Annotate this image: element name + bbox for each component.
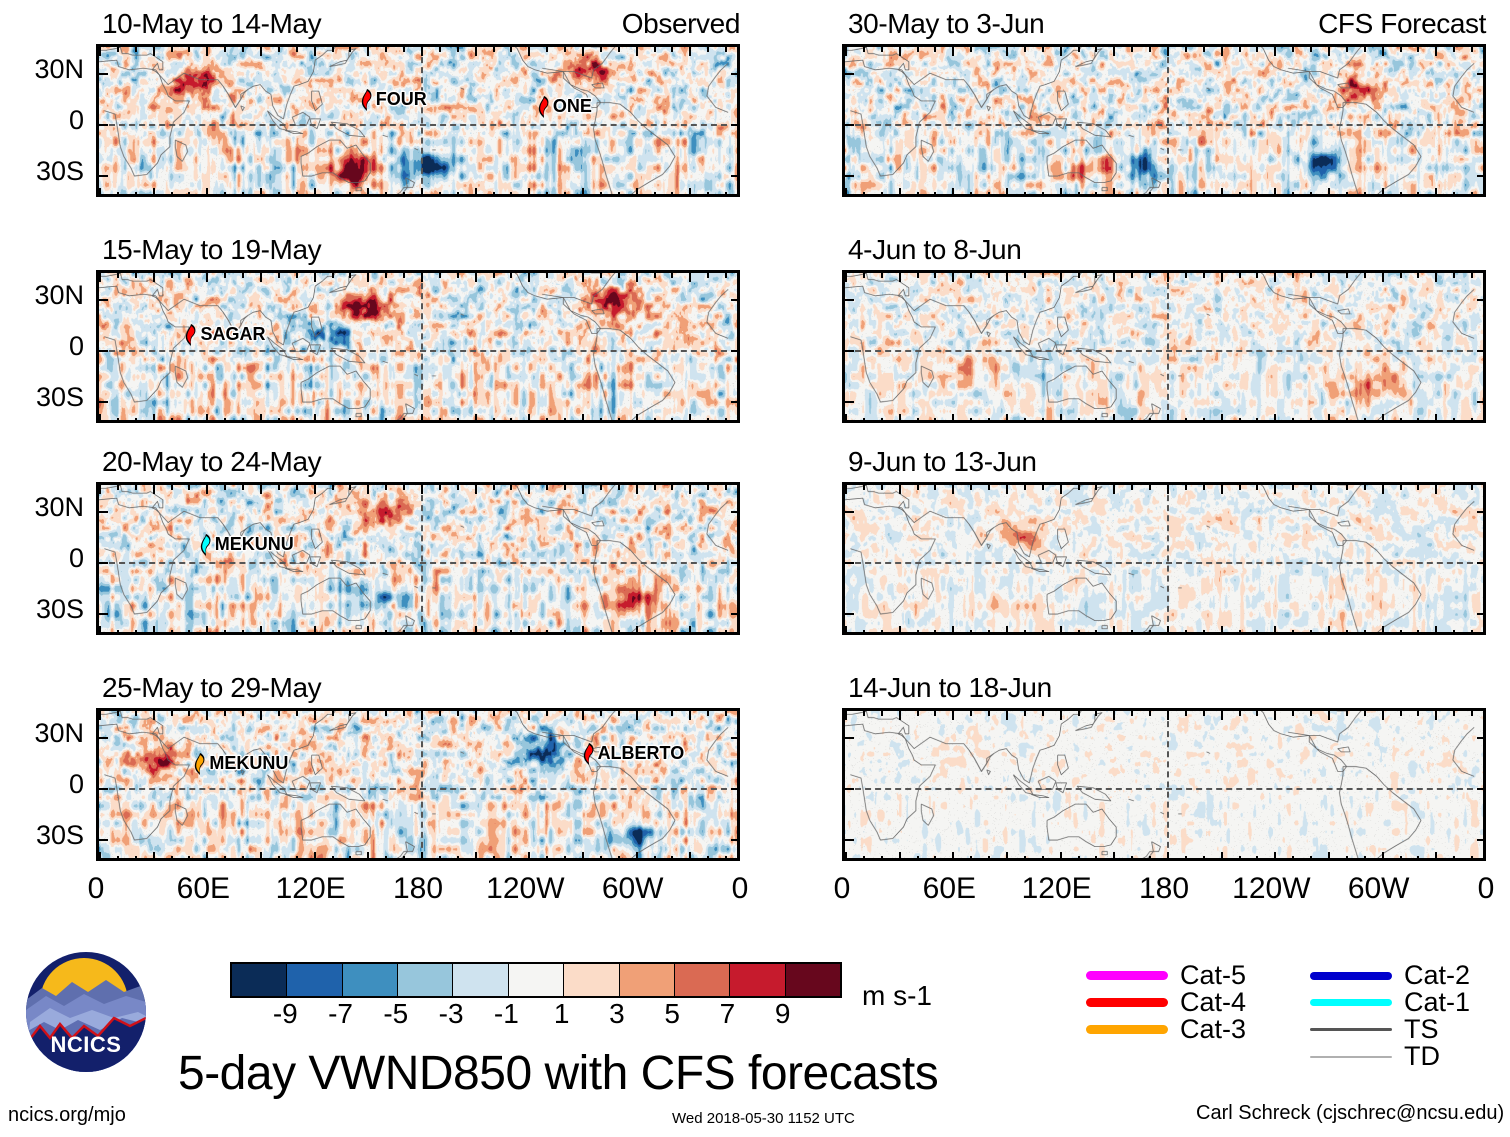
x-tick (153, 47, 155, 56)
x-tick (457, 711, 459, 716)
x-tick (618, 273, 620, 278)
x-tick (224, 856, 226, 861)
storm-marker-alberto: ALBERTO (580, 742, 685, 765)
x-tick (1221, 273, 1223, 282)
x-tick (1417, 711, 1419, 716)
x-tick (917, 856, 919, 861)
x-tick (493, 856, 495, 861)
y-tick (1477, 613, 1486, 615)
x-tick (725, 418, 727, 423)
y-axis-label: 30N (4, 280, 84, 311)
x-tick (206, 485, 208, 494)
x-tick (1078, 630, 1080, 635)
x-tick (493, 192, 495, 197)
x-tick (1006, 711, 1008, 720)
x-tick (242, 485, 244, 490)
colorbar-swatch-9 (730, 964, 785, 996)
map-0: FOURONE (96, 44, 740, 197)
x-tick (1185, 192, 1187, 197)
x-tick (988, 485, 990, 490)
x-tick (296, 630, 298, 635)
x-tick (1417, 273, 1419, 278)
x-tick (636, 485, 638, 494)
x-tick (1471, 47, 1473, 52)
footer-center: Wed 2018-05-30 1152 UTC (672, 1110, 855, 1127)
panel-title-5: 9-Jun to 13-Jun (848, 446, 1037, 478)
x-tick (99, 711, 101, 720)
x-tick (385, 630, 387, 635)
x-tick (457, 273, 459, 278)
x-tick (117, 418, 119, 423)
x-tick (1346, 711, 1348, 716)
x-tick (952, 711, 954, 720)
x-tick (1292, 630, 1294, 635)
x-tick (1382, 47, 1384, 56)
x-tick (600, 630, 602, 635)
x-tick (1256, 273, 1258, 278)
x-tick (636, 414, 638, 423)
panel-title-2: 15-May to 19-May (102, 234, 321, 266)
x-tick (278, 418, 280, 423)
y-axis-label: 0 (4, 105, 84, 136)
panel-title-6: 25-May to 29-May (102, 672, 321, 704)
x-tick (171, 47, 173, 52)
x-tick (654, 856, 656, 861)
x-tick (881, 856, 883, 861)
x-tick (528, 485, 530, 494)
x-tick (1435, 852, 1437, 861)
x-tick (899, 852, 901, 861)
x-tick (600, 418, 602, 423)
x-tick (725, 630, 727, 635)
x-tick (349, 630, 351, 635)
x-tick (881, 630, 883, 635)
x-tick (689, 626, 691, 635)
x-tick (99, 188, 101, 197)
x-tick (1149, 711, 1151, 716)
map-2: SAGAR (96, 270, 740, 423)
x-tick (188, 711, 190, 716)
x-tick (1113, 711, 1115, 720)
x-tick (1274, 485, 1276, 494)
legend-item-cat-4: Cat-4 (1086, 989, 1246, 1016)
x-tick (99, 485, 101, 494)
dateline-3 (1167, 273, 1169, 420)
x-tick (1078, 418, 1080, 423)
x-tick (1364, 273, 1366, 278)
colorbar-swatch-7 (620, 964, 675, 996)
x-tick (582, 188, 584, 197)
x-tick (457, 47, 459, 52)
x-tick (952, 626, 954, 635)
x-tick (1400, 273, 1402, 278)
x-tick (439, 485, 441, 490)
y-axis-label: 30S (4, 156, 84, 187)
x-tick (546, 485, 548, 490)
x-tick (224, 418, 226, 423)
legend-swatch (1086, 998, 1168, 1007)
x-tick (934, 273, 936, 278)
x-tick (618, 630, 620, 635)
x-tick (1346, 273, 1348, 278)
y-tick (845, 613, 854, 615)
x-tick (1078, 711, 1080, 716)
x-tick (1417, 418, 1419, 423)
x-tick (1024, 856, 1026, 861)
panel-title-4: 20-May to 24-May (102, 446, 321, 478)
x-tick (332, 856, 334, 861)
x-tick (296, 485, 298, 490)
x-tick (135, 485, 137, 490)
x-tick (457, 192, 459, 197)
anomaly-field-0 (99, 47, 737, 194)
x-tick (1131, 485, 1133, 490)
x-tick (988, 711, 990, 716)
x-tick (600, 273, 602, 278)
map-7 (842, 708, 1486, 861)
x-tick (970, 711, 972, 716)
storm-label: SAGAR (200, 324, 265, 345)
x-tick (188, 856, 190, 861)
x-tick (1274, 188, 1276, 197)
x-tick (988, 630, 990, 635)
x-tick (1382, 626, 1384, 635)
y-tick (1477, 350, 1486, 352)
x-tick (1274, 47, 1276, 56)
colorbar-tick-label: -3 (439, 998, 464, 1030)
x-tick (99, 273, 101, 282)
x-tick (1453, 485, 1455, 490)
x-tick (1382, 414, 1384, 423)
x-tick (725, 273, 727, 278)
x-tick (1471, 192, 1473, 197)
x-tick (349, 47, 351, 52)
colorbar-swatch-5 (509, 964, 564, 996)
x-tick (988, 47, 990, 52)
colorbar (230, 962, 842, 998)
x-tick (1113, 852, 1115, 861)
x-tick (1328, 47, 1330, 56)
x-tick (1203, 273, 1205, 278)
y-tick (99, 511, 108, 513)
x-tick (1453, 47, 1455, 52)
x-tick (654, 192, 656, 197)
colorbar-tick-label: -1 (494, 998, 519, 1030)
x-tick (206, 711, 208, 720)
dateline-5 (1167, 485, 1169, 632)
x-tick (1328, 711, 1330, 720)
x-tick (1024, 273, 1026, 278)
x-tick (917, 711, 919, 716)
x-tick (1131, 418, 1133, 423)
x-tick (135, 856, 137, 861)
x-tick (1292, 711, 1294, 716)
x-tick (296, 418, 298, 423)
x-tick (1310, 192, 1312, 197)
x-tick (510, 711, 512, 716)
x-tick (188, 418, 190, 423)
x-tick (1239, 630, 1241, 635)
x-tick (970, 273, 972, 278)
x-tick (1095, 856, 1097, 861)
x-tick (117, 485, 119, 490)
equator-line-1 (845, 124, 1483, 126)
x-tick (1095, 485, 1097, 490)
x-tick (367, 414, 369, 423)
x-tick (510, 856, 512, 861)
cyclone-icon (580, 742, 597, 765)
x-axis-tick-label: 60W (602, 872, 664, 906)
x-tick (707, 192, 709, 197)
x-tick (457, 418, 459, 423)
y-axis-label: 0 (4, 331, 84, 362)
x-tick (457, 485, 459, 490)
colorbar-tick-label: 3 (609, 998, 625, 1030)
x-tick (1060, 414, 1062, 423)
y-axis-label: 0 (4, 543, 84, 574)
x-tick (1292, 856, 1294, 861)
y-tick (731, 562, 740, 564)
x-tick (1435, 711, 1437, 720)
equator-line-3 (845, 350, 1483, 352)
x-tick (367, 852, 369, 861)
y-tick (1477, 73, 1486, 75)
x-tick (952, 485, 954, 494)
x-tick (135, 630, 137, 635)
x-tick (671, 273, 673, 278)
x-tick (242, 630, 244, 635)
x-tick (988, 856, 990, 861)
x-tick (671, 711, 673, 716)
storm-label: FOUR (376, 89, 427, 110)
x-tick (1042, 485, 1044, 490)
x-tick (636, 47, 638, 56)
x-tick (421, 273, 423, 282)
panel-title-3: 4-Jun to 8-Jun (848, 234, 1021, 266)
x-tick (1006, 47, 1008, 56)
x-tick (385, 47, 387, 52)
x-tick (1382, 273, 1384, 282)
dateline-4 (421, 485, 423, 632)
x-tick (493, 47, 495, 52)
x-tick (917, 485, 919, 490)
x-tick (1256, 485, 1258, 490)
x-tick (1364, 711, 1366, 716)
x-tick (421, 626, 423, 635)
x-tick (1024, 418, 1026, 423)
x-tick (1167, 485, 1169, 494)
x-tick (1310, 856, 1312, 861)
x-tick (582, 414, 584, 423)
colorbar-swatch-6 (564, 964, 619, 996)
x-tick (600, 856, 602, 861)
legend-label: TS (1404, 1016, 1439, 1043)
x-tick (242, 711, 244, 716)
x-tick (707, 630, 709, 635)
x-tick (1149, 418, 1151, 423)
x-tick (707, 418, 709, 423)
x-tick (917, 192, 919, 197)
x-tick (1167, 711, 1169, 720)
dateline-0 (421, 47, 423, 194)
x-tick (224, 711, 226, 716)
x-tick (385, 273, 387, 278)
x-tick (618, 418, 620, 423)
y-tick (845, 175, 854, 177)
x-tick (636, 711, 638, 720)
x-tick (654, 47, 656, 52)
y-tick (1477, 788, 1486, 790)
x-tick (224, 192, 226, 197)
x-axis-tick-label: 180 (1139, 872, 1189, 906)
x-tick (475, 47, 477, 56)
x-tick (403, 630, 405, 635)
equator-line-7 (845, 788, 1483, 790)
x-tick (1400, 418, 1402, 423)
y-tick (731, 175, 740, 177)
x-tick (1006, 852, 1008, 861)
x-tick (1435, 273, 1437, 282)
y-tick (1477, 124, 1486, 126)
equator-line-2 (99, 350, 737, 352)
x-tick (952, 852, 954, 861)
x-tick (1310, 418, 1312, 423)
x-tick (689, 852, 691, 861)
x-tick (1167, 626, 1169, 635)
x-tick (153, 273, 155, 282)
x-tick (1328, 188, 1330, 197)
x-tick (493, 418, 495, 423)
x-tick (1328, 485, 1330, 494)
dateline-1 (1167, 47, 1169, 194)
x-tick (1471, 711, 1473, 716)
x-tick (881, 273, 883, 278)
storm-marker-sagar: SAGAR (182, 323, 265, 346)
x-axis-tick-label: 120W (1232, 872, 1310, 906)
x-tick (332, 273, 334, 278)
x-tick (296, 192, 298, 197)
x-tick (1203, 856, 1205, 861)
x-tick (863, 47, 865, 52)
x-tick (260, 626, 262, 635)
x-tick (1292, 47, 1294, 52)
x-tick (403, 485, 405, 490)
x-tick (439, 856, 441, 861)
x-tick (367, 47, 369, 56)
x-tick (332, 711, 334, 716)
x-tick (242, 192, 244, 197)
x-tick (439, 711, 441, 716)
x-tick (881, 47, 883, 52)
x-axis-tick-label: 60E (177, 872, 230, 906)
colorbar-units-label: m s-1 (862, 980, 932, 1012)
x-tick (153, 626, 155, 635)
x-tick (457, 630, 459, 635)
x-tick (600, 485, 602, 490)
y-tick (845, 73, 854, 75)
x-tick (1274, 273, 1276, 282)
x-tick (1149, 485, 1151, 490)
x-tick (707, 47, 709, 52)
y-tick (99, 299, 108, 301)
x-tick (528, 273, 530, 282)
x-axis-tick-label: 0 (88, 872, 105, 906)
x-tick (1435, 626, 1437, 635)
x-tick (421, 188, 423, 197)
x-tick (296, 856, 298, 861)
y-tick (731, 788, 740, 790)
x-axis-tick-label: 0 (834, 872, 851, 906)
x-tick (332, 485, 334, 490)
x-tick (1400, 711, 1402, 716)
x-tick (510, 630, 512, 635)
colorbar-swatch-2 (343, 964, 398, 996)
x-tick (493, 630, 495, 635)
x-tick (564, 47, 566, 52)
x-tick (845, 188, 847, 197)
x-tick (1149, 630, 1151, 635)
x-tick (546, 192, 548, 197)
x-axis-right: 060E120E180120W60W0 (842, 872, 1486, 904)
x-tick (970, 856, 972, 861)
x-tick (224, 47, 226, 52)
x-tick (654, 630, 656, 635)
legend-column-right: Cat-2Cat-1TSTD (1310, 962, 1470, 1070)
x-tick (1435, 188, 1437, 197)
x-tick (881, 711, 883, 716)
x-tick (1292, 485, 1294, 490)
x-tick (99, 852, 101, 861)
x-axis-tick-label: 180 (393, 872, 443, 906)
x-tick (546, 630, 548, 635)
x-tick (707, 711, 709, 716)
x-tick (439, 273, 441, 278)
y-tick (99, 613, 108, 615)
x-tick (135, 418, 137, 423)
x-tick (1471, 418, 1473, 423)
y-tick (1477, 839, 1486, 841)
x-tick (1203, 711, 1205, 716)
x-tick (260, 711, 262, 720)
x-axis-tick-label: 120E (276, 872, 346, 906)
x-tick (206, 626, 208, 635)
x-tick (671, 630, 673, 635)
x-tick (403, 47, 405, 52)
x-tick (564, 485, 566, 490)
x-tick (296, 47, 298, 52)
y-tick (99, 737, 108, 739)
x-tick (899, 188, 901, 197)
x-tick (1113, 188, 1115, 197)
dateline-7 (1167, 711, 1169, 858)
x-tick (1149, 856, 1151, 861)
x-tick (934, 485, 936, 490)
y-tick (99, 124, 108, 126)
x-tick (1095, 192, 1097, 197)
x-tick (1328, 273, 1330, 282)
x-tick (439, 418, 441, 423)
x-tick (206, 273, 208, 282)
x-tick (117, 856, 119, 861)
y-axis-label: 30S (4, 382, 84, 413)
x-axis-tick-label: 0 (732, 872, 749, 906)
x-tick (1203, 485, 1205, 490)
dateline-6 (421, 711, 423, 858)
x-axis-tick-label: 60W (1348, 872, 1410, 906)
x-tick (1185, 418, 1187, 423)
x-tick (1113, 47, 1115, 56)
colorbar-tick-label: 7 (720, 998, 736, 1030)
